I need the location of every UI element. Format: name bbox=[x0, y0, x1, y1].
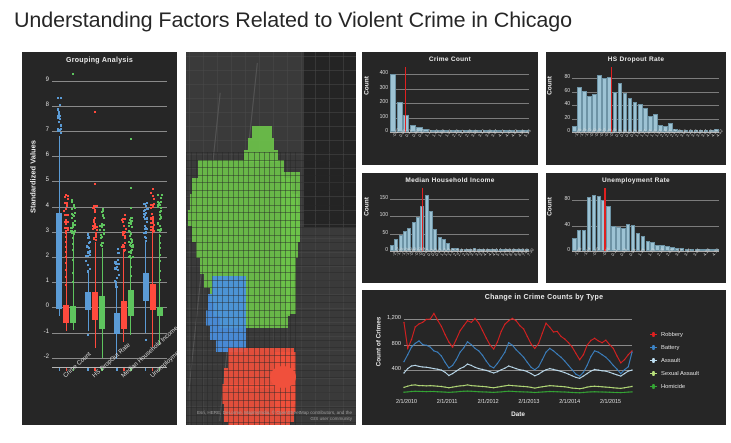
series-point bbox=[545, 391, 546, 392]
histogram-y-tick: 40 bbox=[564, 104, 570, 105]
series-point bbox=[545, 386, 546, 387]
series-point bbox=[613, 348, 614, 349]
series-point bbox=[512, 318, 513, 319]
legend-label: Battery bbox=[661, 345, 679, 351]
outlier-point bbox=[125, 228, 127, 230]
series-point bbox=[456, 370, 457, 371]
census-tract[interactable] bbox=[252, 126, 272, 138]
line-chart-x-tick: 2/1/2014 bbox=[559, 399, 580, 405]
line-chart-plot-area: 1,200800400 bbox=[404, 310, 632, 395]
series-point bbox=[542, 391, 543, 392]
series-point bbox=[523, 328, 524, 329]
series-point bbox=[441, 326, 442, 327]
series-point bbox=[530, 373, 531, 374]
grouping-plot-area: 9876543210-1-2 bbox=[52, 68, 167, 368]
outlier-point bbox=[130, 138, 132, 140]
histogram-bar bbox=[592, 195, 597, 251]
series-point bbox=[407, 368, 408, 369]
series-point bbox=[437, 391, 438, 392]
series-point bbox=[616, 392, 617, 393]
series-point bbox=[575, 377, 576, 378]
series-point bbox=[628, 391, 629, 392]
series-point bbox=[474, 385, 475, 386]
group-tick bbox=[87, 368, 89, 371]
series-point bbox=[478, 350, 479, 351]
outlier-point bbox=[60, 125, 62, 127]
series-point bbox=[415, 365, 416, 366]
series-point bbox=[497, 363, 498, 364]
series-point bbox=[560, 386, 561, 387]
series-point bbox=[459, 368, 460, 369]
legend-marker-icon bbox=[650, 357, 657, 364]
histogram-y-tick: 0 bbox=[567, 131, 570, 132]
tract-boundary bbox=[254, 152, 255, 425]
series-point bbox=[433, 350, 434, 351]
series-point bbox=[598, 340, 599, 341]
outlier-point bbox=[159, 211, 161, 213]
series-point bbox=[557, 331, 558, 332]
box-plot-box[interactable] bbox=[128, 290, 134, 316]
grouping-analysis-title: Grouping Analysis bbox=[22, 57, 177, 64]
line-chart-x-tick: 2/1/2013 bbox=[518, 399, 539, 405]
histogram-y-tick: 80 bbox=[564, 199, 570, 200]
series-line bbox=[404, 341, 632, 376]
outlier-point bbox=[72, 237, 74, 239]
series-point bbox=[572, 346, 573, 347]
line-chart-legend[interactable]: RobberyBatteryAssaultSexual AssaultHomic… bbox=[650, 328, 699, 393]
outlier-point bbox=[60, 97, 62, 99]
series-point bbox=[504, 368, 505, 369]
outlier-point bbox=[130, 266, 132, 268]
street-line bbox=[186, 112, 356, 113]
line-chart-x-label: Date bbox=[404, 411, 632, 418]
series-point bbox=[553, 331, 554, 332]
series-point bbox=[560, 391, 561, 392]
series-point bbox=[512, 367, 513, 368]
outlier-point bbox=[115, 286, 117, 288]
series-point bbox=[433, 368, 434, 369]
histogram-bar bbox=[606, 206, 611, 251]
series-point bbox=[616, 387, 617, 388]
series-point bbox=[508, 391, 509, 392]
series-point bbox=[508, 320, 509, 321]
series-point bbox=[430, 391, 431, 392]
legend-marker-icon bbox=[650, 370, 657, 377]
outlier-point bbox=[117, 252, 119, 254]
histogram-y-label: Count bbox=[364, 69, 371, 103]
outlier-point bbox=[153, 203, 155, 205]
outlier-point bbox=[65, 246, 67, 248]
outlier-point bbox=[117, 248, 119, 250]
outlier-point bbox=[66, 204, 68, 206]
grouping-analysis-panel: Grouping Analysis Standardized Values 98… bbox=[22, 52, 177, 425]
series-point bbox=[459, 391, 460, 392]
series-point bbox=[422, 391, 423, 392]
outlier-point bbox=[129, 235, 131, 237]
series-point bbox=[527, 362, 528, 363]
series-point bbox=[594, 391, 595, 392]
series-point bbox=[530, 387, 531, 388]
outlier-point bbox=[59, 104, 61, 106]
outlier-point bbox=[132, 256, 134, 258]
histogram-y-tick: 300 bbox=[380, 88, 388, 89]
series-point bbox=[441, 391, 442, 392]
series-point bbox=[590, 370, 591, 371]
outlier-point bbox=[72, 259, 74, 261]
histogram-y-tick: 0 bbox=[385, 250, 388, 251]
outlier-point bbox=[93, 219, 95, 221]
line-chart-y-label: Count of Crimes bbox=[376, 307, 383, 377]
series-point bbox=[459, 385, 460, 386]
legend-item-robbery[interactable]: Robbery bbox=[650, 328, 699, 341]
series-point bbox=[411, 365, 412, 366]
outlier-point bbox=[60, 132, 62, 134]
line-chart-x-tick: 2/1/2011 bbox=[437, 399, 458, 405]
box-plot-box[interactable] bbox=[56, 213, 62, 309]
series-point bbox=[474, 367, 475, 368]
series-point bbox=[572, 392, 573, 393]
series-point bbox=[403, 387, 404, 388]
outlier-point bbox=[65, 269, 67, 271]
street-line bbox=[186, 56, 356, 57]
outlier-point bbox=[115, 284, 117, 286]
outlier-point bbox=[65, 236, 67, 238]
series-point bbox=[426, 391, 427, 392]
gridline: 100 bbox=[390, 118, 529, 119]
map-panel[interactable]: Esri, HERE, DeLorme, MapmyIndia, © OpenS… bbox=[186, 52, 356, 425]
census-tract[interactable] bbox=[198, 160, 284, 178]
series-point bbox=[478, 368, 479, 369]
histogram-bar bbox=[429, 211, 433, 251]
series-point bbox=[486, 360, 487, 361]
histogram-bar bbox=[616, 227, 621, 251]
outlier-point bbox=[71, 208, 73, 210]
series-point bbox=[542, 371, 543, 372]
series-point bbox=[463, 347, 464, 348]
series-point bbox=[403, 322, 404, 323]
series-point bbox=[586, 373, 587, 374]
series-point bbox=[418, 340, 419, 341]
outlier-point bbox=[93, 237, 95, 239]
outlier-point bbox=[88, 247, 90, 249]
histogram-bar bbox=[587, 197, 592, 251]
highlighted-tract[interactable] bbox=[270, 366, 296, 388]
series-point bbox=[572, 369, 573, 370]
outlier-point bbox=[131, 249, 133, 251]
series-point bbox=[534, 348, 535, 349]
series-point bbox=[519, 369, 520, 370]
series-point bbox=[560, 371, 561, 372]
box-plot-box[interactable] bbox=[99, 296, 105, 329]
series-point bbox=[553, 391, 554, 392]
outlier-point bbox=[89, 268, 91, 270]
series-point bbox=[553, 350, 554, 351]
outlier-point bbox=[58, 113, 60, 115]
series-point bbox=[433, 391, 434, 392]
outlier-point bbox=[152, 188, 154, 190]
outlier-point bbox=[87, 264, 89, 266]
series-point bbox=[553, 369, 554, 370]
box-plot-box[interactable] bbox=[63, 305, 69, 323]
series-point bbox=[448, 341, 449, 342]
outlier-point bbox=[159, 270, 161, 272]
series-point bbox=[549, 391, 550, 392]
outlier-point bbox=[160, 197, 162, 199]
series-point bbox=[456, 339, 457, 340]
legend-label: Sexual Assault bbox=[661, 371, 699, 377]
census-tract[interactable] bbox=[248, 138, 274, 150]
histogram-plot-area: 050100150 bbox=[390, 191, 529, 251]
box-plot-box[interactable] bbox=[114, 313, 120, 334]
series-point bbox=[609, 392, 610, 393]
box-plot-box[interactable] bbox=[92, 292, 98, 320]
series-point bbox=[441, 369, 442, 370]
outlier-point bbox=[65, 232, 67, 234]
outlier-point bbox=[72, 281, 74, 283]
series-point bbox=[426, 345, 427, 346]
tract-boundary bbox=[243, 152, 244, 425]
grouping-y-tick: 0 bbox=[46, 306, 49, 307]
outlier-point bbox=[157, 194, 159, 196]
outlier-point bbox=[128, 251, 130, 253]
line-chart-y-tick: 800 bbox=[392, 344, 401, 345]
outlier-point bbox=[124, 214, 126, 216]
outlier-point bbox=[87, 334, 89, 336]
series-point bbox=[564, 386, 565, 387]
box-plot-box[interactable] bbox=[70, 306, 76, 322]
outlier-point bbox=[128, 225, 130, 227]
series-point bbox=[594, 350, 595, 351]
outlier-point bbox=[116, 266, 118, 268]
outlier-point bbox=[95, 239, 97, 241]
legend-marker-icon bbox=[650, 344, 657, 351]
series-point bbox=[463, 325, 464, 326]
series-point bbox=[415, 384, 416, 385]
tract-boundary bbox=[238, 152, 239, 425]
gridline: 200 bbox=[390, 103, 529, 104]
outlier-point bbox=[65, 256, 67, 258]
outlier-point bbox=[131, 246, 133, 248]
series-point bbox=[523, 370, 524, 371]
series-point bbox=[474, 391, 475, 392]
gridline: 8 bbox=[52, 106, 167, 107]
series-point bbox=[549, 348, 550, 349]
series-point bbox=[579, 359, 580, 360]
series-point bbox=[411, 339, 412, 340]
series-point bbox=[624, 387, 625, 388]
series-point bbox=[471, 322, 472, 323]
page-title: Understanding Factors Related to Violent… bbox=[14, 8, 572, 33]
series-point bbox=[605, 357, 606, 358]
series-point bbox=[407, 391, 408, 392]
outlier-point bbox=[72, 226, 74, 228]
series-point bbox=[418, 385, 419, 386]
outlier-point bbox=[94, 209, 96, 211]
series-point bbox=[482, 386, 483, 387]
outlier-point bbox=[114, 262, 116, 264]
series-point bbox=[422, 385, 423, 386]
histogram-y-tick: 80 bbox=[564, 77, 570, 78]
series-point bbox=[467, 390, 468, 391]
series-line bbox=[404, 314, 632, 363]
outlier-point bbox=[71, 201, 73, 203]
legend-item-homicide[interactable]: Homicide bbox=[650, 380, 699, 393]
series-point bbox=[508, 342, 509, 343]
series-point bbox=[437, 386, 438, 387]
grouping-y-tick: 1 bbox=[46, 281, 49, 282]
series-point bbox=[545, 323, 546, 324]
series-point bbox=[452, 346, 453, 347]
series-point bbox=[478, 391, 479, 392]
series-point bbox=[534, 369, 535, 370]
series-point bbox=[456, 359, 457, 360]
series-point bbox=[501, 331, 502, 332]
tract-boundary bbox=[248, 152, 249, 425]
outlier-point bbox=[132, 244, 134, 246]
outlier-point bbox=[95, 232, 97, 234]
box-plot-box[interactable] bbox=[150, 284, 156, 310]
outlier-point bbox=[73, 232, 75, 234]
series-point bbox=[568, 374, 569, 375]
series-point bbox=[471, 365, 472, 366]
series-point bbox=[493, 348, 494, 349]
histogram-plot-area: 020406080 bbox=[572, 70, 719, 132]
outlier-point bbox=[99, 225, 101, 227]
series-point bbox=[624, 359, 625, 360]
outlier-point bbox=[146, 221, 148, 223]
histogram-plot-area: 04080 bbox=[572, 191, 719, 251]
series-point bbox=[486, 337, 487, 338]
outlier-point bbox=[128, 230, 130, 232]
series-point bbox=[579, 392, 580, 393]
series-point bbox=[497, 371, 498, 372]
box-plot-box[interactable] bbox=[85, 292, 91, 310]
outlier-point bbox=[74, 207, 76, 209]
box-plot-box[interactable] bbox=[121, 301, 127, 329]
outlier-point bbox=[95, 236, 97, 238]
outlier-point bbox=[152, 229, 154, 231]
series-point bbox=[403, 372, 404, 373]
series-point bbox=[501, 369, 502, 370]
series-point bbox=[411, 346, 412, 347]
histogram-bar bbox=[623, 93, 628, 132]
legend-item-battery[interactable]: Battery bbox=[650, 341, 699, 354]
outlier-point bbox=[123, 225, 125, 227]
legend-label: Assault bbox=[661, 358, 680, 364]
grouping-y-tick: 7 bbox=[46, 130, 49, 131]
outlier-point bbox=[65, 276, 67, 278]
series-point bbox=[493, 392, 494, 393]
series-point bbox=[482, 369, 483, 370]
tract-boundary bbox=[233, 152, 234, 425]
outlier-point bbox=[57, 116, 59, 118]
series-point bbox=[519, 353, 520, 354]
histogram-bar bbox=[597, 196, 602, 251]
series-point bbox=[572, 375, 573, 376]
series-point bbox=[624, 392, 625, 393]
box-plot-box[interactable] bbox=[143, 273, 149, 301]
series-point bbox=[411, 391, 412, 392]
legend-item-sexual-assault[interactable]: Sexual Assault bbox=[650, 367, 699, 380]
histogram-crime-count: Crime Count Count 0100200300400-0.220.05… bbox=[362, 52, 538, 165]
outlier-point bbox=[157, 222, 159, 224]
histogram-bar bbox=[626, 224, 631, 251]
series-point bbox=[538, 374, 539, 375]
gridline: 80 bbox=[572, 78, 719, 79]
gridline: 5 bbox=[52, 181, 167, 182]
gridline: 7 bbox=[52, 131, 167, 132]
series-point bbox=[572, 387, 573, 388]
histogram-y-tick: 50 bbox=[382, 233, 388, 234]
series-point bbox=[482, 355, 483, 356]
tract-boundary bbox=[191, 152, 192, 425]
outlier-point bbox=[124, 249, 126, 251]
histogram-bar bbox=[425, 195, 429, 251]
outlier-point bbox=[74, 224, 76, 226]
outlier-point bbox=[152, 195, 154, 197]
series-point bbox=[452, 386, 453, 387]
series-point bbox=[609, 344, 610, 345]
series-point bbox=[459, 352, 460, 353]
outlier-point bbox=[74, 220, 76, 222]
series-point bbox=[523, 357, 524, 358]
histogram-y-tick: 0 bbox=[567, 250, 570, 251]
series-point bbox=[463, 391, 464, 392]
series-point bbox=[575, 353, 576, 354]
tract-boundary bbox=[295, 152, 296, 425]
series-point bbox=[549, 327, 550, 328]
series-point bbox=[609, 360, 610, 361]
outlier-point bbox=[159, 247, 161, 249]
series-point bbox=[527, 371, 528, 372]
series-point bbox=[489, 392, 490, 393]
outlier-point bbox=[150, 192, 152, 194]
series-point bbox=[486, 370, 487, 371]
series-point bbox=[568, 342, 569, 343]
series-point bbox=[478, 386, 479, 387]
series-point bbox=[407, 386, 408, 387]
tract-boundary bbox=[222, 152, 223, 425]
outlier-point bbox=[87, 234, 89, 236]
outlier-point bbox=[72, 272, 74, 274]
series-point bbox=[534, 387, 535, 388]
series-point bbox=[515, 368, 516, 369]
tract-boundary bbox=[186, 152, 187, 425]
series-point bbox=[620, 388, 621, 389]
histogram-title: HS Dropout Rate bbox=[546, 56, 726, 63]
outlier-point bbox=[152, 206, 154, 208]
series-point bbox=[631, 391, 632, 392]
outlier-point bbox=[94, 211, 96, 213]
box-whisker bbox=[159, 234, 160, 345]
series-point bbox=[583, 392, 584, 393]
outlier-point bbox=[143, 203, 145, 205]
line-chart-y-tick: 1,200 bbox=[387, 318, 401, 319]
box-plot-box[interactable] bbox=[157, 307, 163, 316]
legend-item-assault[interactable]: Assault bbox=[650, 354, 699, 367]
series-point bbox=[467, 363, 468, 364]
grouping-y-tick: 4 bbox=[46, 206, 49, 207]
series-point bbox=[579, 375, 580, 376]
outlier-point bbox=[128, 222, 130, 224]
series-point bbox=[557, 370, 558, 371]
series-point bbox=[403, 392, 404, 393]
outlier-point bbox=[65, 241, 67, 243]
outlier-point bbox=[57, 108, 59, 110]
histogram-bar bbox=[602, 78, 607, 132]
series-point bbox=[418, 366, 419, 367]
series-point bbox=[631, 352, 632, 353]
